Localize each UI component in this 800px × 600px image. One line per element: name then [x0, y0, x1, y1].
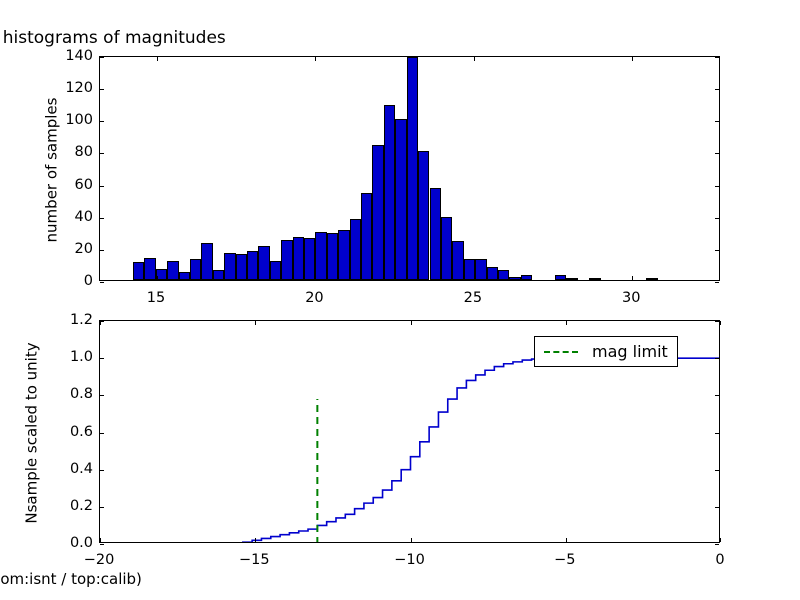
bottom-panel-axes: mag limit: [99, 320, 720, 543]
ytick-label: 0.4: [70, 461, 93, 477]
ytick-mark: [100, 470, 104, 471]
xtick-mark: [632, 276, 633, 280]
histogram-bar: [179, 272, 190, 280]
top-panel-axes: [99, 56, 720, 281]
histogram-bar: [509, 277, 520, 280]
histogram-bar: [213, 270, 224, 280]
ytick-label: 140: [65, 48, 93, 64]
ytick-mark: [100, 395, 104, 396]
histogram-bar: [338, 230, 349, 280]
histogram-bar: [350, 219, 361, 280]
histogram-plot-surface: [100, 57, 719, 280]
xtick-mark: [157, 57, 158, 61]
histogram-bar: [555, 275, 566, 280]
histogram-bar: [372, 145, 383, 280]
figure-title: differential / cumulative histograms of …: [0, 28, 800, 48]
cumulative-curve: [100, 358, 719, 542]
histogram-bar: [304, 238, 315, 280]
xtick-label: 30: [622, 290, 640, 306]
histogram-bar: [315, 232, 326, 280]
histogram-bar: [407, 57, 418, 280]
legend[interactable]: mag limit: [534, 336, 678, 367]
ytick-label: 1.0: [70, 349, 93, 365]
xtick-label: 15: [147, 290, 165, 306]
bottom-panel-ylabel: Nsample scaled to unity: [23, 322, 41, 545]
xtick-mark: [255, 321, 256, 325]
ytick-mark: [100, 433, 104, 434]
histogram-bar: [224, 253, 235, 280]
ytick-label: 0.2: [70, 498, 93, 514]
ytick-mark: [100, 153, 104, 154]
histogram-bar: [144, 258, 155, 281]
xtick-label: −20: [84, 552, 115, 568]
xtick-label: 20: [305, 290, 323, 306]
ytick-mark: [100, 57, 104, 58]
matplotlib-figure: differential / cumulative histograms of …: [0, 0, 800, 600]
xtick-mark: [100, 321, 101, 325]
ytick-mark: [715, 89, 719, 90]
mag-limit-dash-icon: [544, 351, 578, 353]
xtick-mark: [157, 276, 158, 280]
histogram-bar: [646, 278, 657, 280]
bottom-panel-xlabel: magnitude (bottom:isnt / top:calib): [0, 570, 800, 588]
xtick-mark: [720, 538, 721, 542]
figure-title-text: differential / cumulative histograms of …: [0, 28, 226, 48]
top-panel-xtick-labels: 15202530: [99, 286, 720, 306]
ytick-label: 80: [75, 144, 93, 160]
histogram-bar: [589, 278, 600, 280]
histogram-bar: [361, 193, 372, 280]
ytick-mark: [100, 218, 104, 219]
histogram-bar: [498, 270, 509, 280]
ytick-label: 20: [75, 241, 93, 257]
ytick-mark: [715, 507, 719, 508]
bottom-panel-xtick-labels: −20−15−10−50: [99, 548, 720, 568]
xtick-mark: [720, 321, 721, 325]
xtick-mark: [474, 57, 475, 61]
ytick-mark: [100, 250, 104, 251]
histogram-bar: [418, 151, 429, 280]
top-panel-ylabel: number of samples: [43, 58, 61, 283]
histogram-bar: [441, 217, 452, 280]
xtick-mark: [315, 57, 316, 61]
ytick-label: 120: [65, 80, 93, 96]
histogram-bar: [270, 261, 281, 280]
ytick-label: 100: [65, 112, 93, 128]
ytick-mark: [715, 57, 719, 58]
xtick-label: 25: [464, 290, 482, 306]
histogram-bar: [258, 246, 269, 280]
ytick-mark: [715, 321, 719, 322]
legend-label-mag-limit: mag limit: [592, 342, 668, 361]
ytick-mark: [715, 544, 719, 545]
bottom-panel-ylabel-text: Nsample scaled to unity: [23, 342, 41, 523]
histogram-bar: [487, 267, 498, 280]
ytick-label: 0.0: [70, 535, 93, 551]
ytick-mark: [715, 470, 719, 471]
xtick-mark: [255, 538, 256, 542]
xtick-mark: [632, 57, 633, 61]
histogram-bar: [201, 243, 212, 280]
ytick-mark: [100, 507, 104, 508]
ytick-mark: [100, 544, 104, 545]
histogram-bar: [384, 105, 395, 280]
xtick-mark: [315, 276, 316, 280]
ytick-label: 0: [84, 273, 93, 289]
histogram-bar: [566, 278, 577, 280]
ytick-mark: [100, 89, 104, 90]
ytick-mark: [100, 358, 104, 359]
histogram-bar: [293, 237, 304, 280]
ytick-label: 60: [75, 177, 93, 193]
xtick-mark: [566, 538, 567, 542]
xtick-mark: [474, 276, 475, 280]
histogram-bar: [236, 254, 247, 280]
xtick-label: −10: [394, 552, 425, 568]
ytick-label: 40: [75, 209, 93, 225]
ytick-mark: [715, 250, 719, 251]
top-panel-ylabel-text: number of samples: [43, 98, 61, 243]
ytick-mark: [715, 282, 719, 283]
histogram-bar: [190, 259, 201, 280]
histogram-bar: [247, 251, 258, 280]
ytick-mark: [715, 121, 719, 122]
histogram-bar: [167, 261, 178, 280]
ytick-mark: [100, 121, 104, 122]
ytick-mark: [100, 282, 104, 283]
ytick-label: 0.6: [70, 424, 93, 440]
histogram-bar: [475, 259, 486, 280]
ytick-label: 1.2: [70, 312, 93, 328]
histogram-bar: [327, 233, 338, 280]
bottom-panel-ytick-labels: 0.00.20.40.60.81.01.2: [45, 320, 93, 543]
ytick-mark: [715, 358, 719, 359]
ytick-label: 0.8: [70, 386, 93, 402]
histogram-bar: [430, 188, 441, 280]
histogram-bar: [133, 262, 144, 280]
xtick-mark: [566, 321, 567, 325]
xtick-label: −15: [239, 552, 270, 568]
bottom-panel-xlabel-text: magnitude (bottom:isnt / top:calib): [0, 570, 142, 588]
xtick-label: −5: [554, 552, 575, 568]
xtick-label: 0: [715, 552, 724, 568]
xtick-mark: [100, 538, 101, 542]
histogram-bar: [521, 275, 532, 280]
histogram-bar: [281, 240, 292, 280]
ytick-mark: [715, 395, 719, 396]
histogram-bar: [395, 119, 406, 280]
histogram-bar: [452, 241, 463, 280]
ytick-mark: [100, 186, 104, 187]
xtick-mark: [411, 321, 412, 325]
xtick-mark: [411, 538, 412, 542]
ytick-mark: [715, 186, 719, 187]
ytick-mark: [715, 433, 719, 434]
ytick-mark: [715, 218, 719, 219]
ytick-mark: [715, 153, 719, 154]
